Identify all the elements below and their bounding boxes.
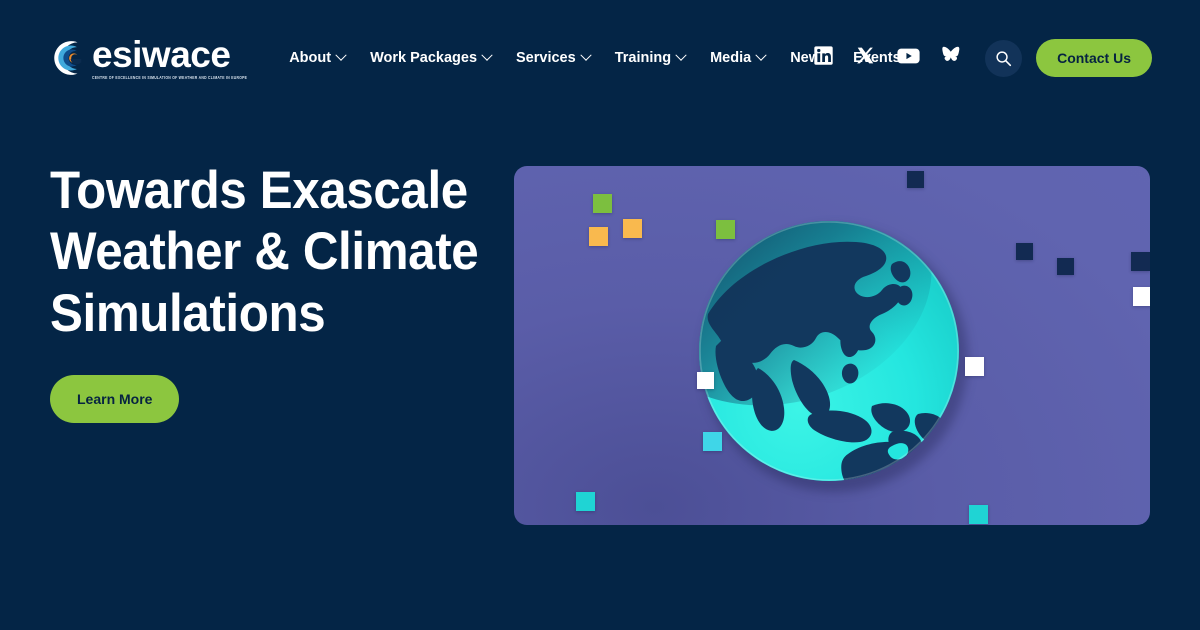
globe-illustration (696, 218, 962, 484)
square-green-2 (716, 220, 735, 239)
square-green-1 (593, 194, 612, 213)
square-navy-2 (1016, 243, 1033, 260)
esiwace-swirl-logo-icon (50, 38, 90, 78)
search-icon (995, 50, 1012, 67)
nav-item-work-packages[interactable]: Work Packages (370, 50, 491, 66)
nav-item-label: Work Packages (370, 50, 477, 66)
nav-item-label: About (289, 50, 331, 66)
social-links (813, 45, 963, 71)
hero-title: Towards Exascale Weather & Climate Simul… (50, 160, 478, 344)
square-amber-1 (589, 227, 608, 246)
youtube-icon[interactable] (897, 47, 920, 70)
header-actions: Contact Us (813, 39, 1152, 77)
square-white-2 (965, 357, 984, 376)
hero-text-column: Towards Exascale Weather & Climate Simul… (0, 115, 510, 630)
bluesky-icon[interactable] (942, 46, 963, 70)
nav-item-services[interactable]: Services (516, 50, 590, 66)
square-navy-4 (1131, 252, 1150, 271)
nav-item-about[interactable]: About (289, 50, 345, 66)
square-cyan-3 (969, 505, 988, 524)
nav-item-media[interactable]: Media (710, 50, 765, 66)
site-header: esiwace CENTRE OF EXCELLENCE IN SIMULATI… (0, 0, 1200, 115)
square-cyan-2 (576, 492, 595, 511)
square-white-3 (697, 372, 714, 389)
brand-wordmark: esiwace (92, 36, 230, 73)
brand-tagline: CENTRE OF EXCELLENCE IN SIMULATION OF WE… (92, 75, 247, 80)
nav-item-label: Training (615, 50, 671, 66)
square-navy-1 (907, 171, 924, 188)
chevron-down-icon (481, 49, 492, 60)
square-navy-3 (1057, 258, 1074, 275)
chevron-down-icon (580, 49, 591, 60)
chevron-down-icon (335, 49, 346, 60)
square-white-1 (1133, 287, 1150, 306)
hero-illustration-card (514, 166, 1150, 525)
linkedin-icon[interactable] (813, 45, 834, 71)
nav-item-training[interactable]: Training (615, 50, 685, 66)
learn-more-button[interactable]: Learn More (50, 375, 179, 423)
chevron-down-icon (756, 49, 767, 60)
square-cyan-1 (703, 432, 722, 451)
search-button[interactable] (985, 40, 1022, 77)
chevron-down-icon (675, 49, 686, 60)
brand-logo[interactable]: esiwace CENTRE OF EXCELLENCE IN SIMULATI… (50, 36, 247, 79)
nav-item-label: Media (710, 50, 751, 66)
contact-us-button[interactable]: Contact Us (1036, 39, 1152, 77)
hero-title-line-1: Towards Exascale (50, 160, 478, 221)
nav-item-label: Services (516, 50, 576, 66)
square-amber-2 (623, 219, 642, 238)
x-twitter-icon[interactable] (856, 46, 875, 70)
primary-navigation: About Work Packages Services Training Me… (289, 50, 900, 66)
hero-title-line-3: Simulations (50, 283, 478, 344)
hero-section: Towards Exascale Weather & Climate Simul… (0, 115, 1200, 630)
hero-title-line-2: Weather & Climate (50, 221, 478, 282)
